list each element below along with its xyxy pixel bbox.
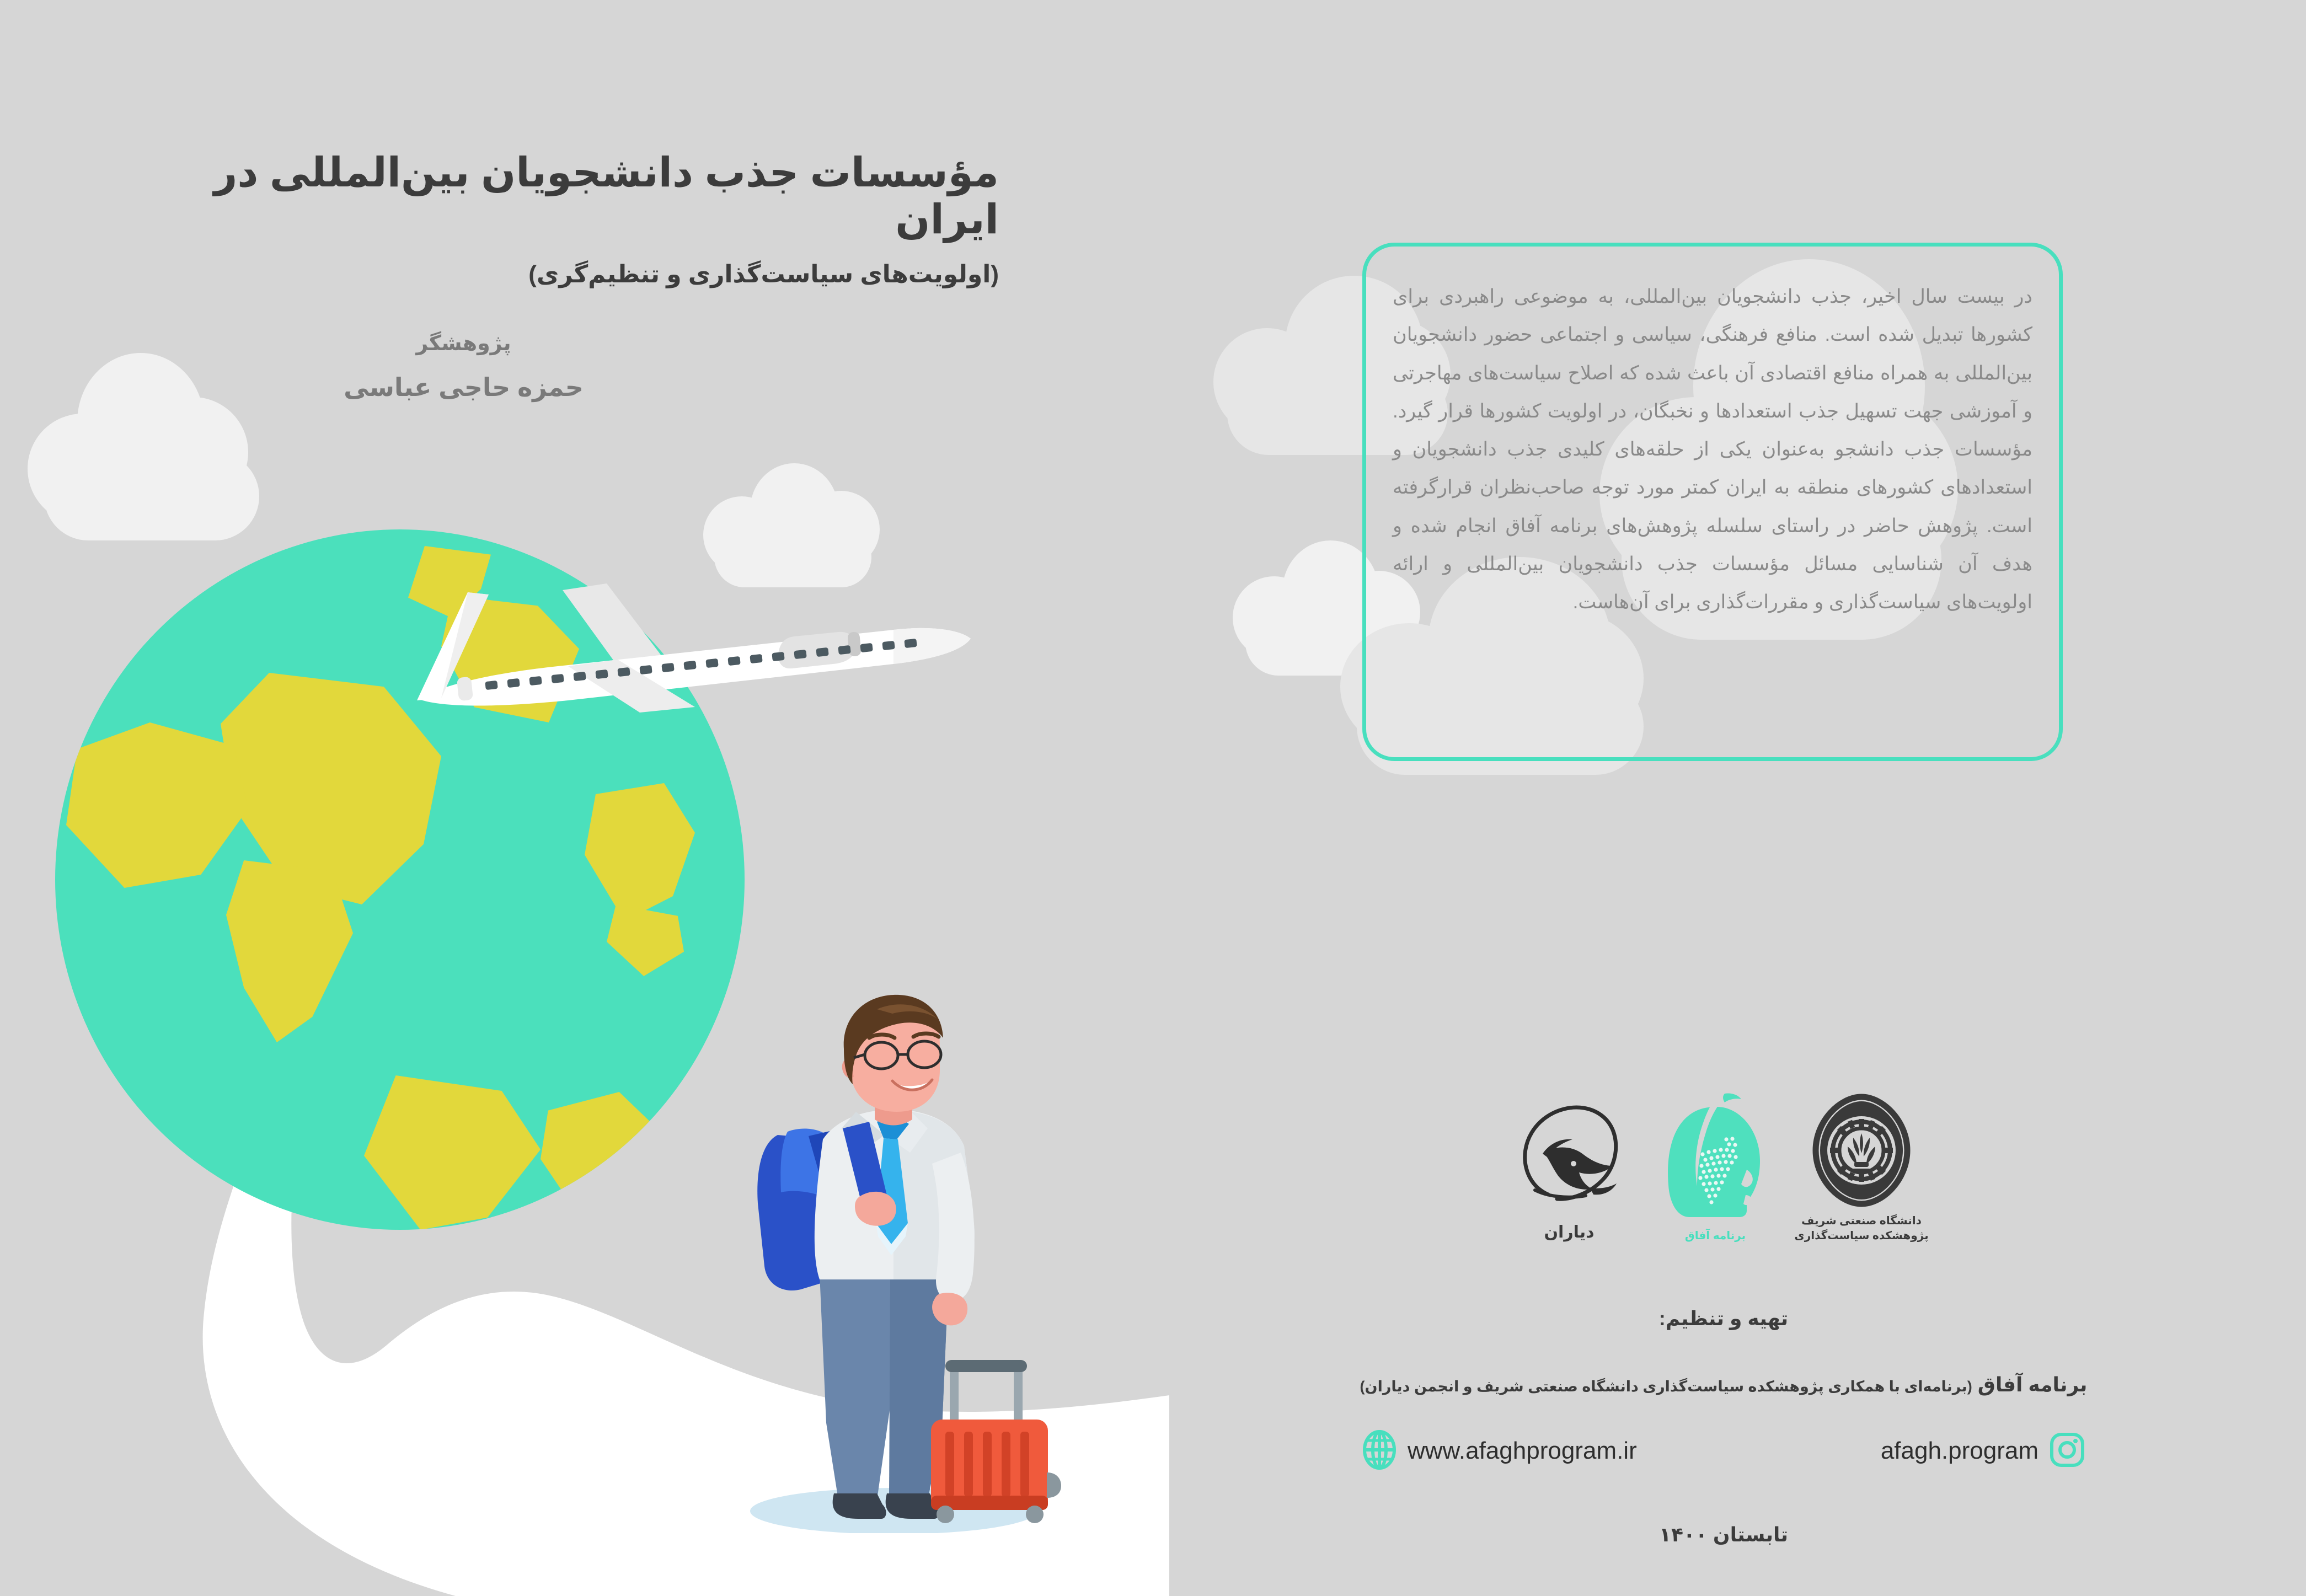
contact-row: www.afaghprogram.ir afagh.program [1324, 1430, 2123, 1472]
abstract-box: در بیست سال اخیر، جذب دانشجویان بین‌المل… [1362, 243, 2063, 761]
page-title: مؤسسات جذب دانشجویان بین‌المللی در ایران [165, 149, 999, 243]
logo-diaran: دیاران [1500, 1083, 1638, 1244]
author-name: حمزه حاجی عباسی [165, 372, 762, 402]
organization-name: برنامه آفاق [1978, 1373, 2088, 1396]
cover-page: مؤسسات جذب دانشجویان بین‌المللی در ایران… [0, 0, 2306, 1596]
organization-note: (برنامه‌ای با همکاری پژوهشکده سیاست‌گذار… [1360, 1378, 1972, 1395]
logo-caption-line2: پژوهشکده سیاست‌گذاری [1794, 1229, 1928, 1244]
publication-season: تابستان ۱۴۰۰ [1324, 1523, 2123, 1546]
abstract-text: در بیست سال اخیر، جذب دانشجویان بین‌المل… [1393, 277, 2032, 622]
diaran-bird-icon [1515, 1083, 1623, 1215]
instagram-icon [2050, 1432, 2085, 1470]
logo-caption-line1: برنامه آفاق [1685, 1229, 1746, 1244]
page-subtitle: (اولویت‌های سیاست‌گذاری و تنظیم‌گری) [165, 260, 999, 290]
organization-line: برنامه آفاق (برنامه‌ای با همکاری پژوهشکد… [1324, 1372, 2123, 1398]
logo-caption: دیاران [1544, 1222, 1594, 1244]
instagram-handle: afagh.program [1881, 1437, 2039, 1465]
website-url: www.afaghprogram.ir [1408, 1437, 1637, 1465]
prepared-by-label: تهیه و تنظیم: [1324, 1307, 2123, 1330]
logo-caption-line1: دیاران [1544, 1222, 1594, 1244]
logo-caption-line1: دانشگاه صنعتی شریف [1794, 1214, 1928, 1229]
globe-icon [1362, 1430, 1397, 1472]
title-block: مؤسسات جذب دانشجویان بین‌المللی در ایران… [165, 149, 999, 290]
logo-sharif-university: دانشگاه صنعتی شریف پژوهشکده سیاست‌گذاری [1793, 1075, 1930, 1244]
afagh-program-globe-head-icon [1663, 1090, 1768, 1222]
author-block: پژوهشگر حمزه حاجی عباسی [165, 331, 762, 402]
student-traveler-character-icon [711, 987, 1064, 1533]
logo-afagh-program: برنامه آفاق [1646, 1090, 1784, 1244]
website-link[interactable]: www.afaghprogram.ir [1362, 1430, 1637, 1472]
airplane-icon [309, 568, 982, 789]
logo-caption: دانشگاه صنعتی شریف پژوهشکده سیاست‌گذاری [1794, 1214, 1928, 1244]
researcher-label: پژوهشگر [165, 331, 762, 356]
instagram-link[interactable]: afagh.program [1881, 1432, 2085, 1470]
footer: تهیه و تنظیم: برنامه آفاق (برنامه‌ای با … [1324, 1307, 2123, 1546]
logo-row: دانشگاه صنعتی شریف پژوهشکده سیاست‌گذاری [1500, 1051, 1930, 1244]
logo-caption: برنامه آفاق [1685, 1229, 1746, 1244]
sharif-university-emblem-icon [1812, 1075, 1911, 1207]
